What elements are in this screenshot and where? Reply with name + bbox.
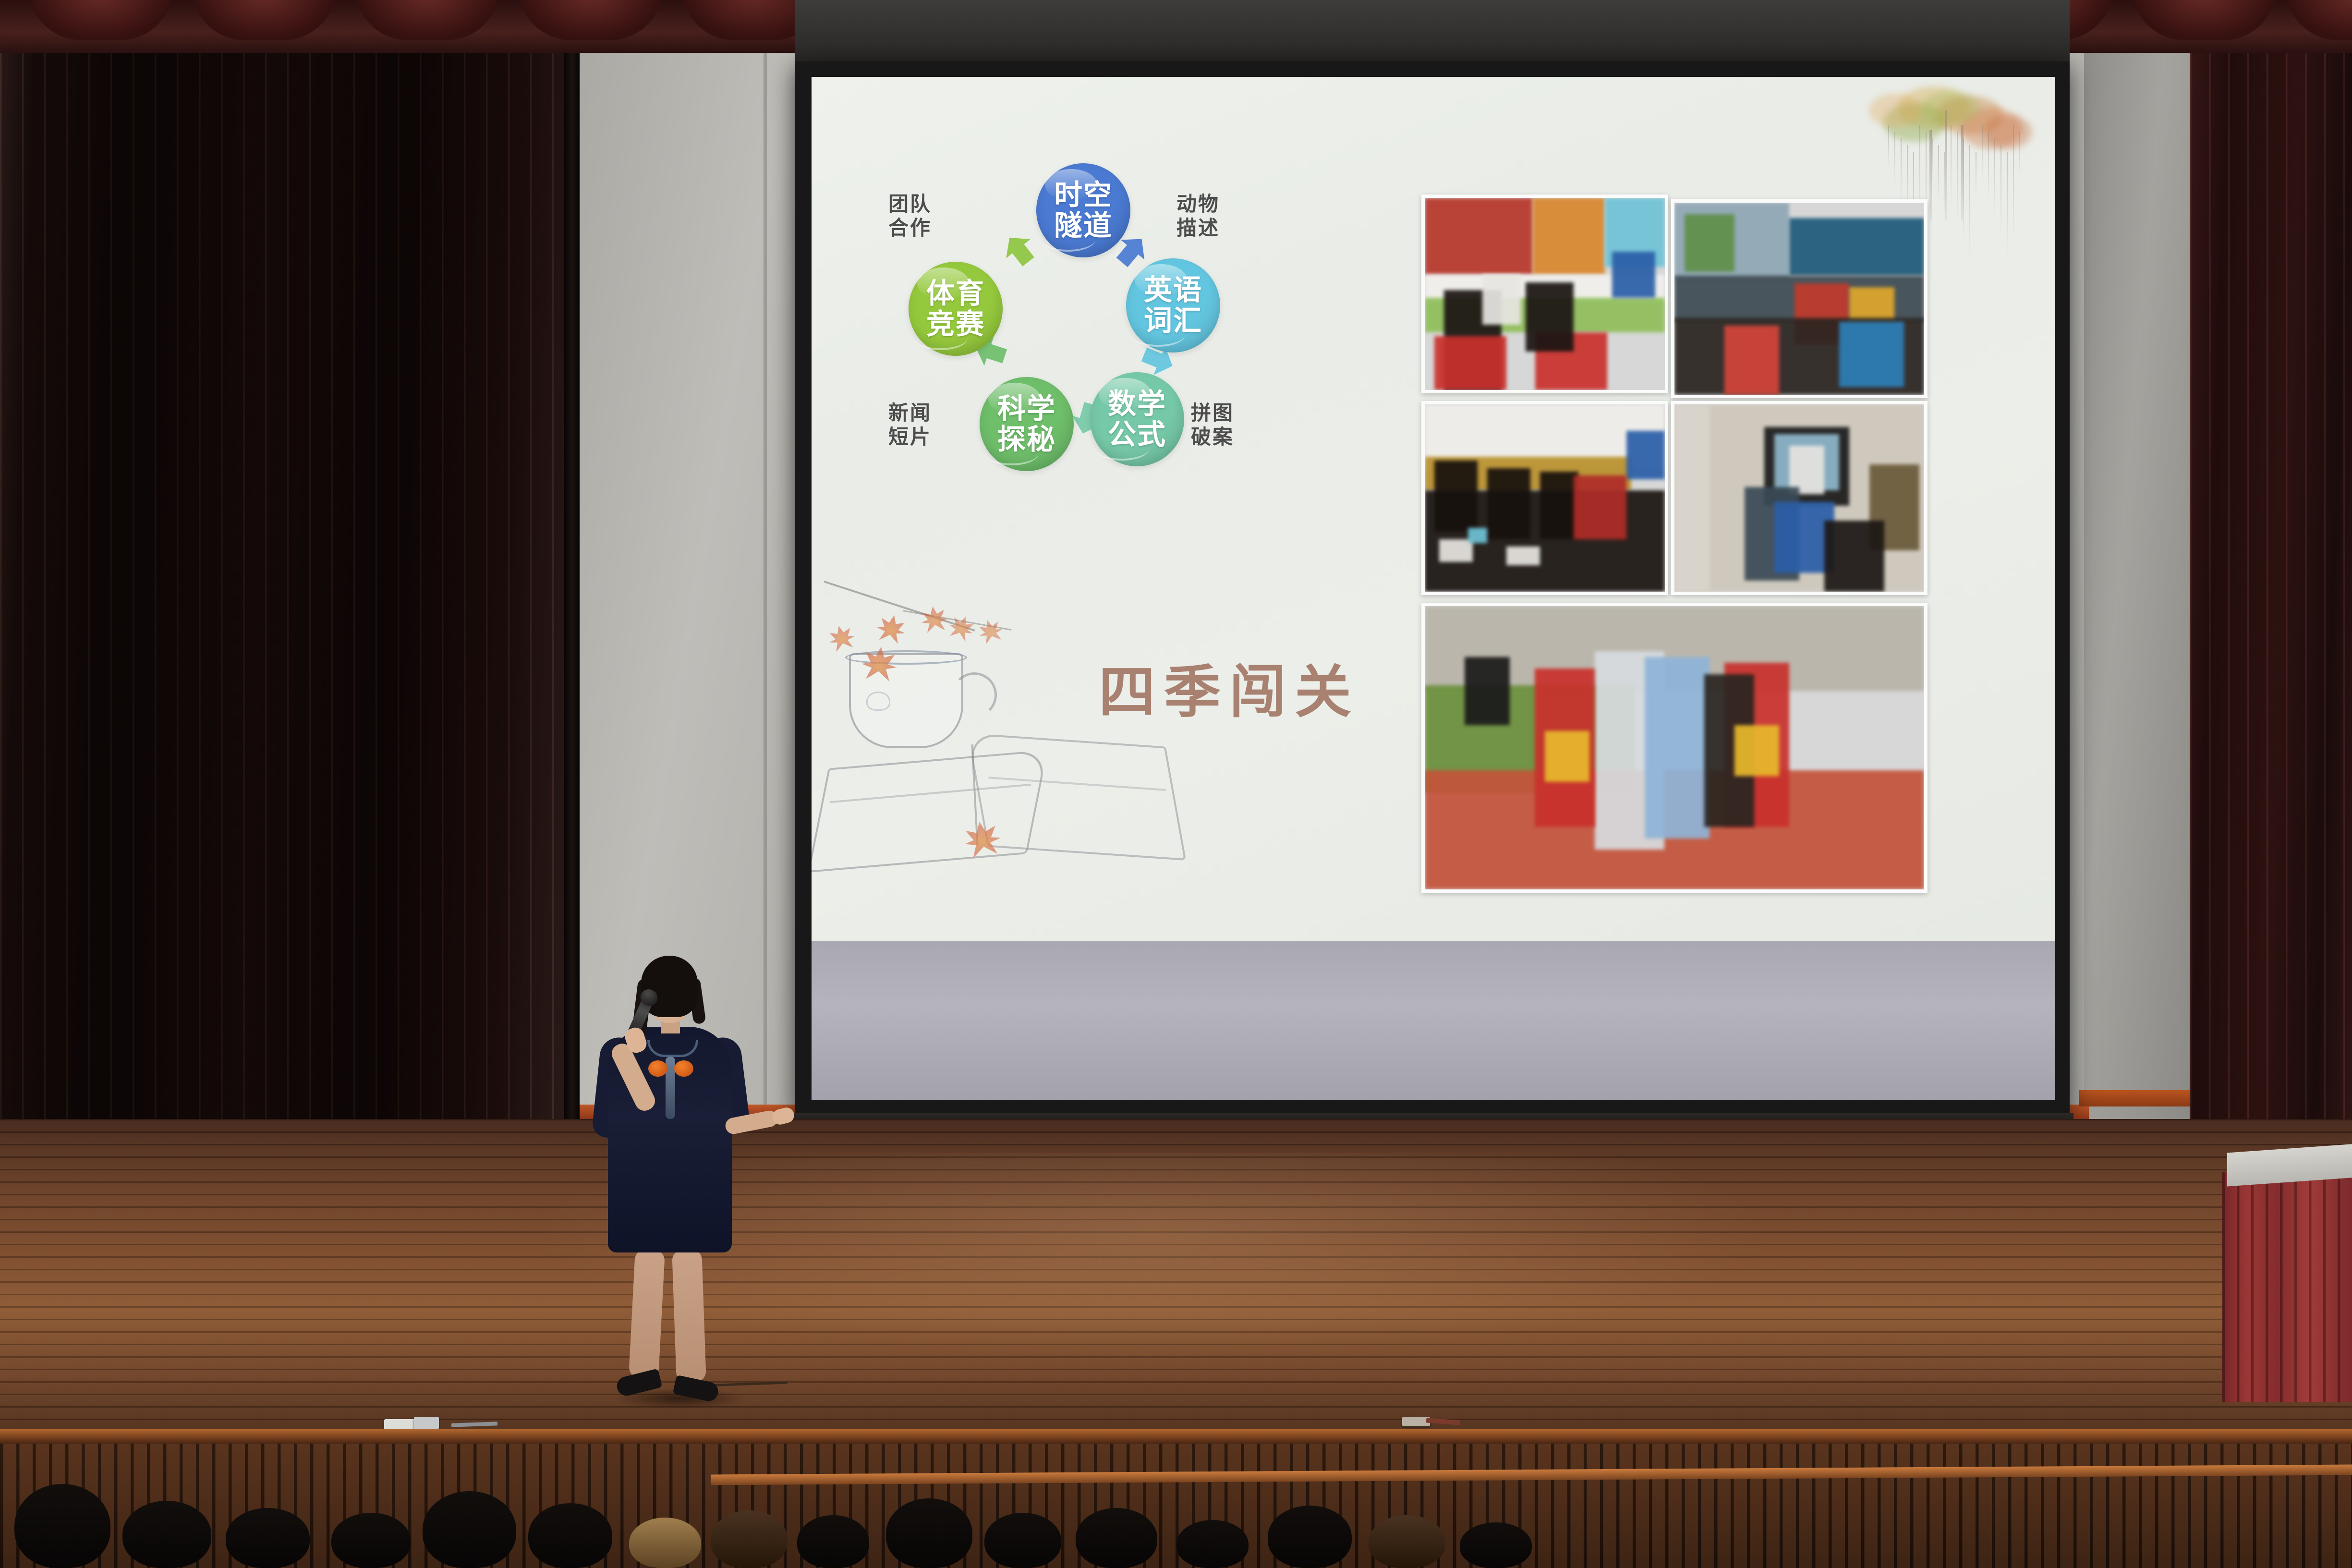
cycle-bubble-b5[interactable]: 体育竞赛 xyxy=(909,262,1003,356)
skirted-table xyxy=(2222,1172,2352,1402)
cycle-bubble-label-line2: 隧道 xyxy=(1054,210,1113,241)
cycle-bubble-label-line2: 词汇 xyxy=(1144,305,1202,336)
photo-p2 xyxy=(1671,199,1928,398)
back-wall-right xyxy=(2084,0,2199,1119)
cycle-side-label-l4: 新闻短片 xyxy=(888,401,932,450)
audience-head-12 xyxy=(1176,1520,1249,1568)
audience-head-6 xyxy=(629,1518,701,1568)
tree-drip-20 xyxy=(2013,125,2014,243)
presenter-flower-left-icon xyxy=(648,1060,667,1077)
tree-drip-1 xyxy=(1894,132,1895,187)
tree-drip-18 xyxy=(2000,145,2001,238)
cycle-bubble-b3[interactable]: 数学公式 xyxy=(1090,372,1184,466)
tree-drip-15 xyxy=(1982,125,1983,181)
audience-head-1 xyxy=(122,1501,211,1568)
cycle-bubble-label-line2: 竞赛 xyxy=(926,309,985,340)
screen-housing-rail xyxy=(795,0,2070,62)
cycle-diagram: 时空隧道英语词汇数学公式科学探秘体育竞赛团队合作动物描述拼图破案新闻短片 xyxy=(884,163,1316,528)
cycle-bubble-b4[interactable]: 科学探秘 xyxy=(980,377,1074,471)
cycle-bubble-label-line1: 时空 xyxy=(1054,180,1113,210)
watercolor-cup-and-book-icon xyxy=(820,600,1176,917)
stage-edge-lip xyxy=(0,1429,2352,1445)
audience-head-5 xyxy=(528,1503,612,1568)
tree-foliage-6 xyxy=(1984,115,2032,149)
cycle-bubble-label-line1: 数学 xyxy=(1108,389,1166,419)
maple-leaf-2 xyxy=(919,604,949,634)
cycle-bubble-label-line2: 探秘 xyxy=(997,424,1056,455)
maple-leaf-1 xyxy=(874,612,908,646)
cycle-bubble-label-line1: 体育 xyxy=(926,278,985,309)
cycle-side-label-line1: 团队 xyxy=(888,192,932,216)
presenter-leg-right xyxy=(672,1249,706,1383)
audience-head-15 xyxy=(1460,1522,1532,1568)
screen-unused-area xyxy=(812,941,2055,1100)
projection-screen-surface: 时空隧道英语词汇数学公式科学探秘体育竞赛团队合作动物描述拼图破案新闻短片 四季闯… xyxy=(812,77,2055,1100)
tree-drip-11 xyxy=(1957,132,1958,225)
photo-p1 xyxy=(1421,194,1668,393)
photo-p5 xyxy=(1421,603,1928,893)
cycle-side-label-line1: 拼图 xyxy=(1191,401,1234,425)
wall-baseboard-trim-right xyxy=(2079,1090,2202,1106)
teacup-handle xyxy=(952,672,997,717)
photo-p4 xyxy=(1671,401,1928,595)
tree-drip-12 xyxy=(1963,138,1964,244)
tree-drip-7 xyxy=(1932,138,1933,182)
auditorium-scene: 时空隧道英语词汇数学公式科学探秘体育竞赛团队合作动物描述拼图破案新闻短片 四季闯… xyxy=(0,0,2352,1568)
tree-foliage-4 xyxy=(1869,94,1922,127)
audience-head-0 xyxy=(14,1484,110,1568)
cycle-side-label-l3: 拼图破案 xyxy=(1191,401,1234,450)
tree-drip-13 xyxy=(1969,145,1970,263)
cycle-bubble-label-line1: 英语 xyxy=(1144,275,1202,305)
audience-head-4 xyxy=(423,1491,516,1568)
book-right-page xyxy=(967,733,1187,861)
tree-drip-16 xyxy=(1988,132,1989,200)
cycle-side-label-l1: 团队合作 xyxy=(888,192,932,241)
photo-grid xyxy=(1421,194,1947,900)
tree-drip-0 xyxy=(1888,125,1889,168)
presenter-leg-left xyxy=(629,1249,665,1379)
cycle-arrow-a1 xyxy=(997,228,1041,271)
photo-p3 xyxy=(1421,401,1668,595)
audience-head-11 xyxy=(1076,1508,1157,1568)
cycle-side-label-line2: 短片 xyxy=(888,425,932,449)
maple-leaf-3 xyxy=(946,612,978,644)
maple-leaf-4 xyxy=(976,617,1006,646)
cycle-side-label-line2: 合作 xyxy=(888,216,932,240)
audience-head-9 xyxy=(886,1498,972,1568)
maple-leaf-0 xyxy=(826,622,857,654)
cycle-bubble-b1[interactable]: 时空隧道 xyxy=(1036,163,1130,257)
tree-drip-21 xyxy=(2019,132,2020,175)
stage-curtain-left xyxy=(0,0,564,1162)
tree-drip-8 xyxy=(1938,145,1939,201)
tree-drip-19 xyxy=(2007,152,2008,257)
stage-curtain-right xyxy=(2190,0,2352,1229)
presenter xyxy=(567,956,768,1417)
cycle-side-label-line2: 破案 xyxy=(1191,425,1234,449)
cycle-bubble-b2[interactable]: 英语词汇 xyxy=(1126,258,1220,352)
audience-head-8 xyxy=(797,1515,869,1568)
presenter-flower-right-icon xyxy=(674,1060,693,1077)
cycle-bubble-label-line1: 科学 xyxy=(997,393,1056,424)
tree-foliage-5 xyxy=(1922,91,1979,125)
floor-object-device xyxy=(414,1417,439,1429)
audience-head-3 xyxy=(331,1513,411,1568)
teacup-rim xyxy=(845,650,967,665)
floor-object-paper xyxy=(384,1419,416,1430)
tree-drip-10 xyxy=(1951,125,1952,206)
cycle-side-label-line1: 动物 xyxy=(1176,192,1220,216)
audience-head-2 xyxy=(226,1508,310,1568)
cycle-side-label-line1: 新闻 xyxy=(888,401,932,425)
audience-head-7 xyxy=(711,1510,788,1568)
audience-head-10 xyxy=(984,1513,1061,1568)
tree-drip-14 xyxy=(1976,152,1976,195)
cycle-side-label-l2: 动物描述 xyxy=(1176,192,1220,241)
audience-head-14 xyxy=(1369,1515,1445,1568)
tree-drip-17 xyxy=(1994,138,1995,219)
cycle-bubble-label-line2: 公式 xyxy=(1108,419,1166,450)
cycle-side-label-line2: 描述 xyxy=(1176,216,1220,240)
teacup-motif xyxy=(866,692,890,711)
presentation-slide: 时空隧道英语词汇数学公式科学探秘体育竞赛团队合作动物描述拼图破案新闻短片 四季闯… xyxy=(812,77,2055,941)
audience-head-13 xyxy=(1268,1506,1352,1568)
